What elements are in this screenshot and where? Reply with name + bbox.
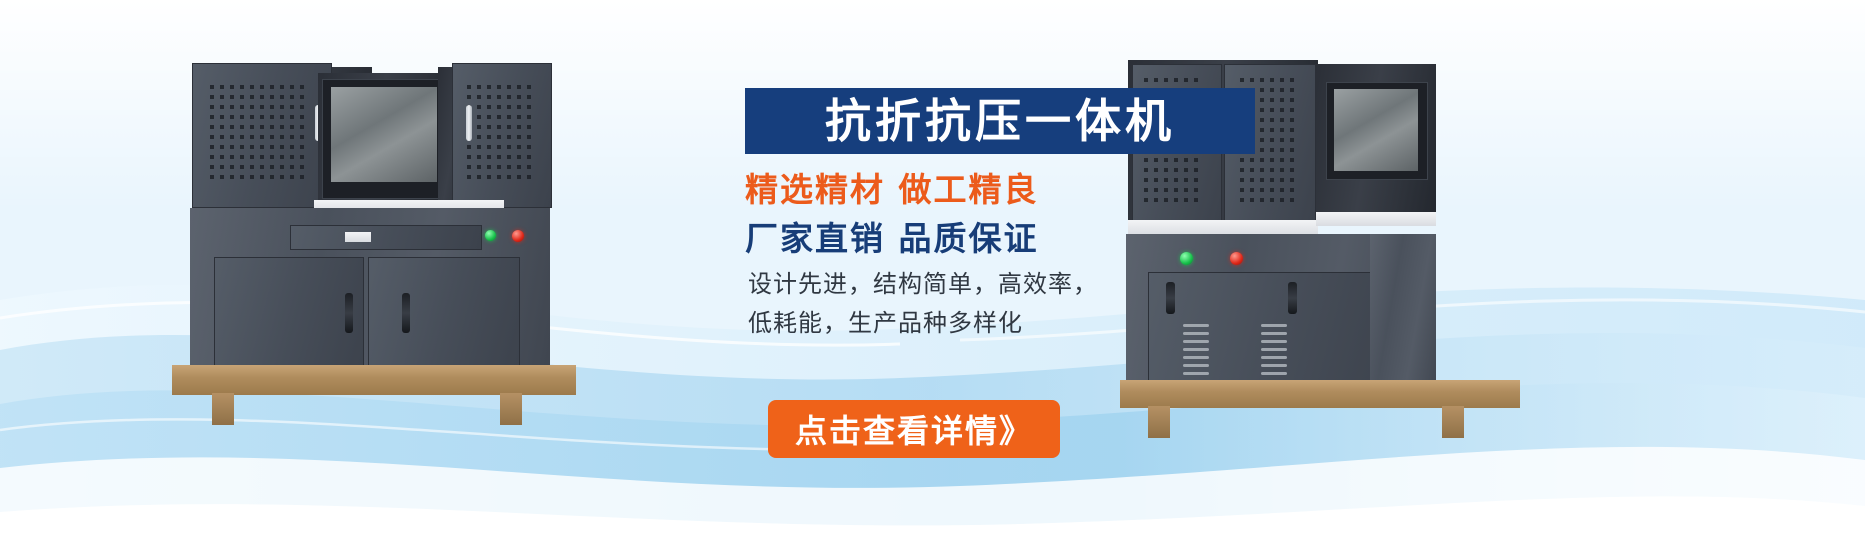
page-title: 抗折抗压一体机	[825, 98, 1175, 144]
promo-banner: 抗折抗压一体机 精选精材 做工精良 厂家直销 品质保证 设计先进，结构简单，高效…	[0, 0, 1865, 550]
view-details-button[interactable]: 点击查看详情》	[768, 400, 1060, 458]
description-line-2: 低耗能，生产品种多样化	[748, 303, 1288, 338]
description-line-1: 设计先进，结构简单，高效率，	[748, 264, 1288, 299]
banner-title-bar: 抗折抗压一体机	[745, 88, 1255, 154]
headline-orange: 精选精材 做工精良	[745, 163, 1265, 211]
view-details-button-label: 点击查看详情》	[795, 406, 1033, 452]
copy-block: 抗折抗压一体机 精选精材 做工精良 厂家直销 品质保证 设计先进，结构简单，高效…	[0, 0, 1865, 550]
headline-blue: 厂家直销 品质保证	[745, 212, 1265, 260]
